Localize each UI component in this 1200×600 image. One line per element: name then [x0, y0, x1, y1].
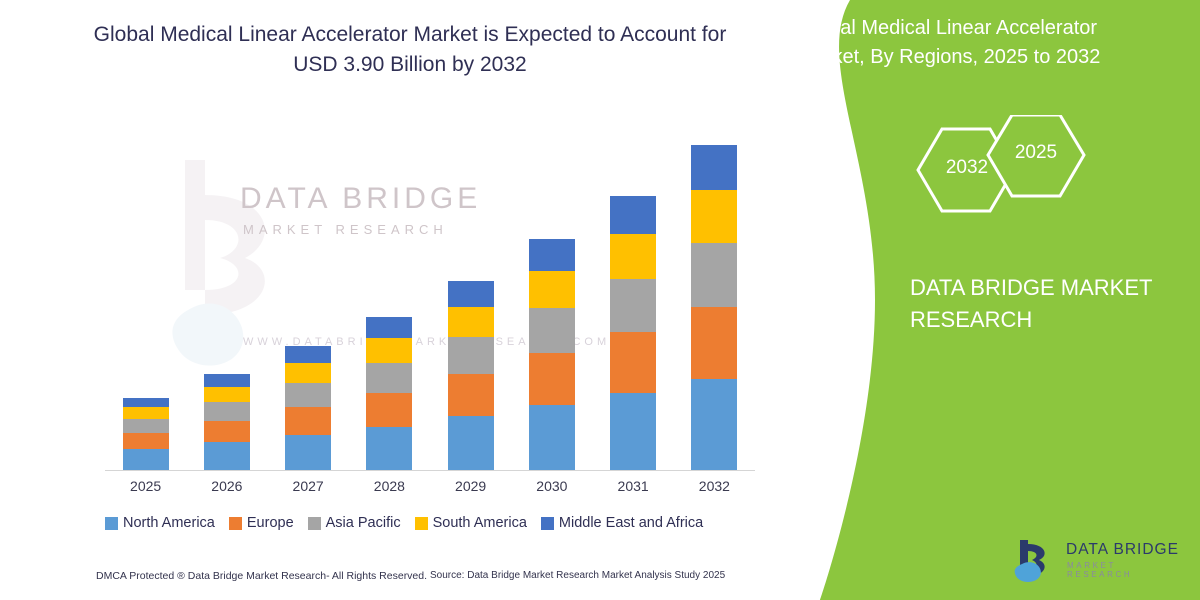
legend-swatch-icon: [308, 517, 321, 530]
chart-legend: North AmericaEuropeAsia PacificSouth Ame…: [105, 512, 765, 534]
bar-segment: [610, 279, 656, 333]
bar-segment: [691, 190, 737, 243]
bar-group: [123, 398, 169, 470]
bar-segment: [123, 433, 169, 449]
bar-segment: [529, 239, 575, 271]
bar-segment: [691, 243, 737, 307]
bar-segment: [285, 383, 331, 408]
bar-group: [610, 196, 656, 470]
bar-segment: [285, 435, 331, 470]
bar-segment: [204, 402, 250, 421]
bar-segment: [285, 407, 331, 435]
legend-item[interactable]: Europe: [229, 515, 294, 531]
bar-group: [529, 239, 575, 470]
bar-segment: [366, 393, 412, 427]
bar-segment: [691, 145, 737, 191]
bar-segment: [448, 337, 494, 374]
x-axis-label: 2026: [197, 478, 257, 494]
bar-segment: [204, 442, 250, 470]
brand-logo: DATA BRIDGE MARKET RESEARCH: [1010, 538, 1185, 584]
bar-segment: [529, 308, 575, 354]
bar-group: [366, 317, 412, 470]
x-axis-label: 2028: [359, 478, 419, 494]
page-title: Global Medical Linear Accelerator Market…: [90, 20, 730, 80]
bar-segment: [285, 363, 331, 383]
x-axis-tick-labels: 20252026202720282029203020312032: [105, 478, 755, 500]
bar-segment: [204, 421, 250, 442]
panel-title: Global Medical Linear Accelerator Market…: [798, 14, 1128, 72]
bar-segment: [529, 271, 575, 308]
bar-segment: [448, 281, 494, 307]
bar-segment: [366, 427, 412, 470]
hexagon-back-label: 2032: [928, 157, 1006, 179]
stacked-bar-plot: [105, 120, 755, 470]
legend-label: Middle East and Africa: [559, 515, 703, 531]
x-axis-label: 2031: [603, 478, 663, 494]
bar-segment: [610, 234, 656, 278]
legend-swatch-icon: [229, 517, 242, 530]
hexagon-group: 2032 2025: [900, 115, 1100, 225]
hexagon-front-label: 2025: [997, 142, 1075, 164]
right-info-panel: Global Medical Linear Accelerator Market…: [780, 0, 1200, 600]
bar-segment: [610, 196, 656, 235]
legend-item[interactable]: Middle East and Africa: [541, 515, 703, 531]
bar-segment: [366, 338, 412, 363]
legend-item[interactable]: Asia Pacific: [308, 515, 401, 531]
bar-segment: [691, 307, 737, 379]
legend-label: North America: [123, 515, 215, 531]
bar-segment: [123, 449, 169, 470]
bar-segment: [448, 374, 494, 416]
bar-segment: [123, 398, 169, 407]
bar-segment: [610, 332, 656, 393]
legend-item[interactable]: North America: [105, 515, 215, 531]
footer-source: Source: Data Bridge Market Research Mark…: [430, 570, 725, 581]
legend-swatch-icon: [105, 517, 118, 530]
panel-brand-text: DATA BRIDGE MARKET RESEARCH: [910, 272, 1170, 336]
x-axis-label: 2027: [278, 478, 338, 494]
legend-item[interactable]: South America: [415, 515, 527, 531]
bar-segment: [204, 387, 250, 402]
bar-segment: [123, 419, 169, 433]
bar-group: [204, 374, 250, 470]
bar-segment: [366, 317, 412, 338]
x-axis-label: 2030: [522, 478, 582, 494]
bar-segment: [448, 416, 494, 470]
logo-subtitle: MARKET RESEARCH: [1067, 561, 1185, 579]
bar-segment: [529, 353, 575, 404]
bar-group: [448, 281, 494, 470]
bar-segment: [123, 407, 169, 419]
bar-segment: [691, 379, 737, 470]
bar-segment: [204, 374, 250, 387]
x-axis-line: [105, 470, 755, 471]
legend-label: Asia Pacific: [326, 515, 401, 531]
logo-title: DATA BRIDGE: [1066, 541, 1179, 559]
bar-segment: [366, 363, 412, 393]
bar-segment: [529, 405, 575, 470]
bar-segment: [448, 307, 494, 337]
chart-panel: Global Medical Linear Accelerator Market…: [0, 0, 800, 600]
x-axis-label: 2029: [441, 478, 501, 494]
bridge-mark-icon: [1010, 538, 1060, 584]
bar-group: [285, 346, 331, 470]
legend-label: Europe: [247, 515, 294, 531]
legend-label: South America: [433, 515, 527, 531]
x-axis-label: 2032: [684, 478, 744, 494]
bar-segment: [285, 346, 331, 362]
legend-swatch-icon: [541, 517, 554, 530]
legend-swatch-icon: [415, 517, 428, 530]
footer-copyright: DMCA Protected ® Data Bridge Market Rese…: [96, 570, 427, 582]
x-axis-label: 2025: [116, 478, 176, 494]
bar-group: [691, 145, 737, 470]
bar-segment: [610, 393, 656, 470]
